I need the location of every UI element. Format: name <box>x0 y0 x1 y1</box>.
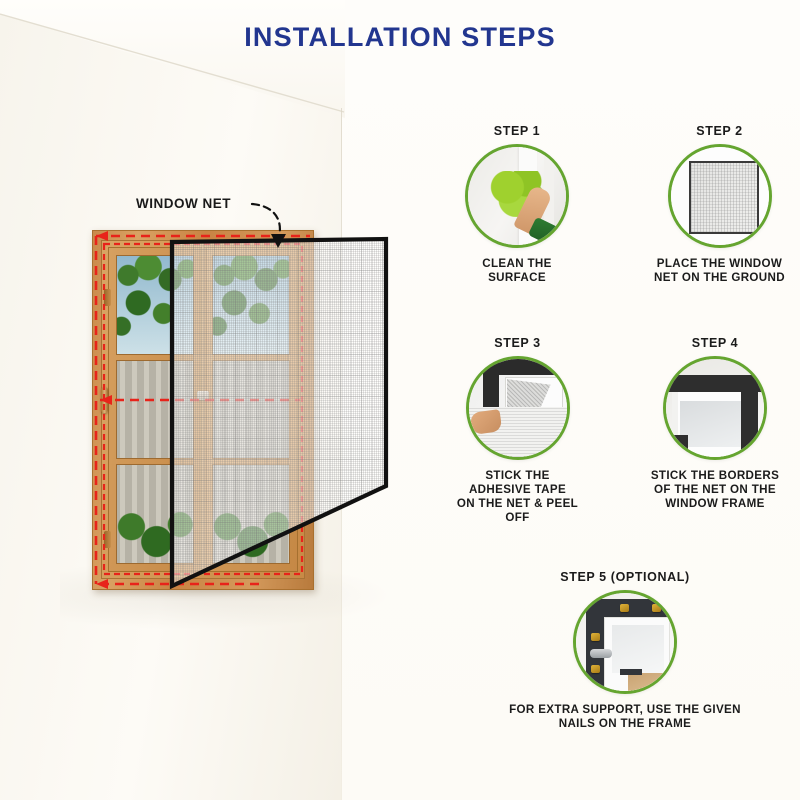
nail-icon <box>652 604 661 612</box>
hand-with-green-cloth-cleaning-icon <box>468 147 566 245</box>
step-2-number: STEP 2 <box>632 124 800 138</box>
window-net-diagram <box>0 0 430 800</box>
step-5: STEP 5 (OPTIONAL) FOR EXTRA SUPPORT, USE… <box>490 570 760 731</box>
window-net-label: WINDOW NET <box>136 196 231 211</box>
step-1-caption: CLEAN THE SURFACE <box>462 257 572 285</box>
step-1-image <box>465 144 569 248</box>
net-frame-border <box>0 0 430 800</box>
net-border-on-frame-icon <box>666 359 764 457</box>
step-4-number: STEP 4 <box>625 336 800 350</box>
step-4: STEP 4 STICK THE BORDERS OF THE NET ON T… <box>625 336 800 511</box>
step-2-image <box>668 144 772 248</box>
step-2: STEP 2 PLACE THE WINDOW NET ON THE GROUN… <box>632 124 800 285</box>
step-3-image <box>466 356 570 460</box>
step-4-caption: STICK THE BORDERS OF THE NET ON THE WIND… <box>625 469 800 511</box>
step-3-number: STEP 3 <box>455 336 580 350</box>
page-title: INSTALLATION STEPS <box>0 22 800 53</box>
flat-net-square-icon <box>671 147 769 245</box>
step-5-caption: FOR EXTRA SUPPORT, USE THE GIVEN NAILS O… <box>490 703 760 731</box>
step-5-image <box>573 590 677 694</box>
nails-on-frame-icon <box>576 593 674 691</box>
step-1-number: STEP 1 <box>462 124 572 138</box>
nail-icon <box>591 633 600 641</box>
step-3: STEP 3 STICK THE ADHESIVE TAPE ON THE NE… <box>455 336 580 526</box>
nail-icon <box>620 604 629 612</box>
mesh-net-panel <box>0 0 430 800</box>
nail-icon <box>591 665 600 673</box>
step-2-caption: PLACE THE WINDOW NET ON THE GROUND <box>632 257 800 285</box>
step-5-number: STEP 5 (OPTIONAL) <box>490 570 760 584</box>
step-3-caption: STICK THE ADHESIVE TAPE ON THE NET & PEE… <box>455 469 580 526</box>
step-1: STEP 1 CLEAN THE SURFACE <box>462 124 572 285</box>
step-4-image <box>663 356 767 460</box>
hand-peeling-tape-icon <box>469 359 567 457</box>
